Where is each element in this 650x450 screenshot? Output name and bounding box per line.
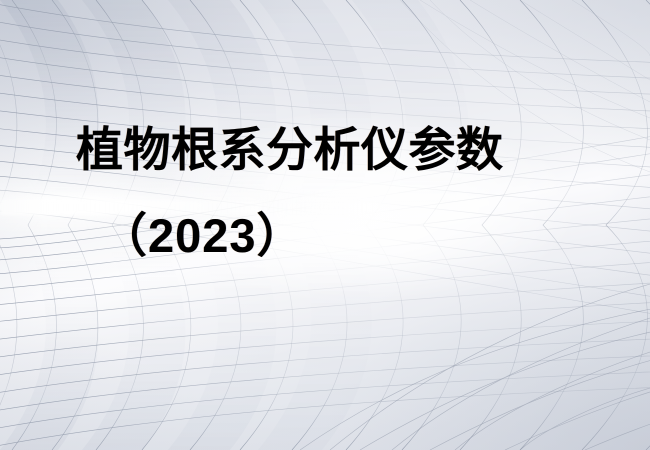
- title-slide: 植物根系分析仪参数 （2023）: [0, 0, 650, 450]
- slide-background-wireframe: [0, 0, 650, 450]
